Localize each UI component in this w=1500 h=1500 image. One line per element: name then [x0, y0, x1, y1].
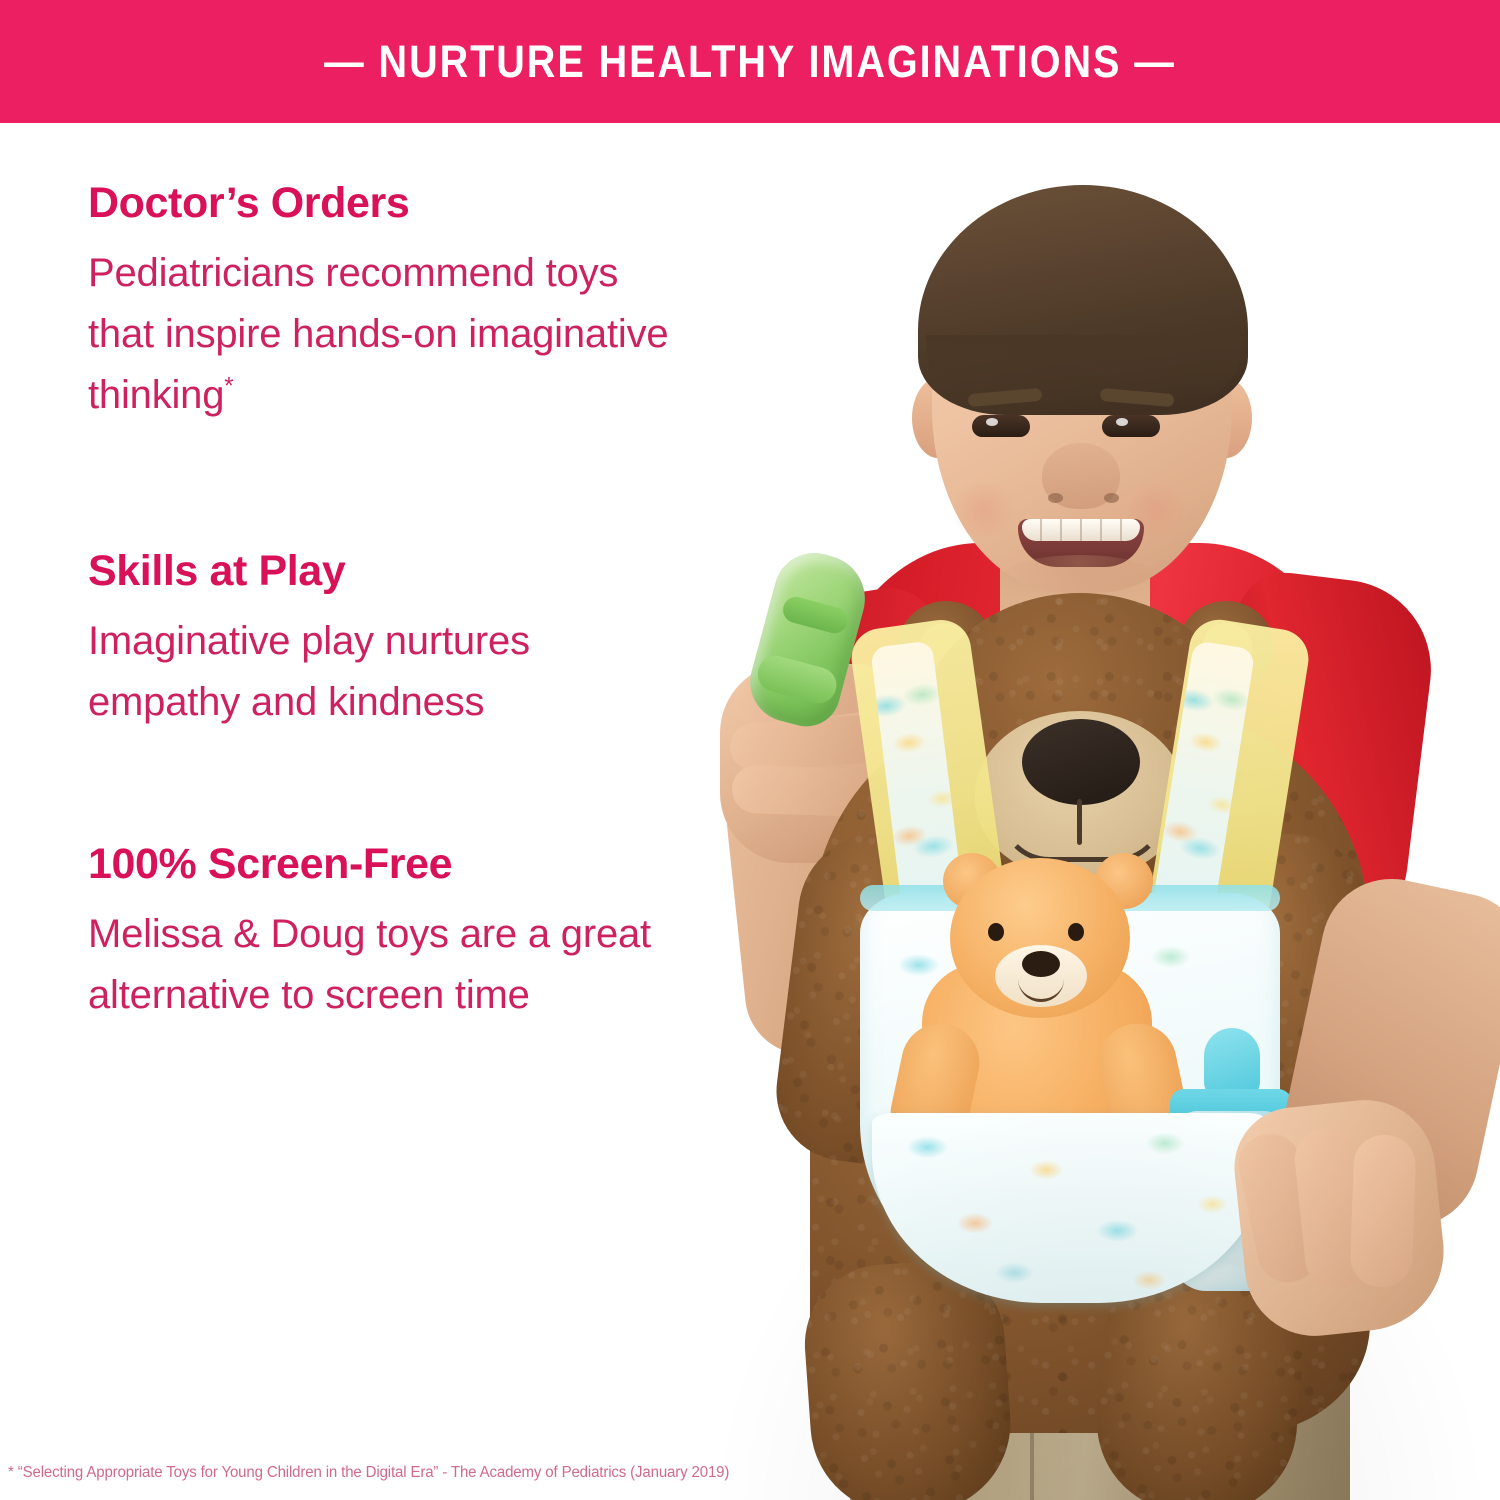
- copy-column: Doctor’s Orders Pediatricians recommend …: [88, 180, 688, 1025]
- boy-supporting-finger-3: [1349, 1134, 1416, 1288]
- banner-title: — NURTURE HEALTHY IMAGINATIONS —: [324, 36, 1176, 88]
- copy-block-skills-at-play: Skills at Play Imaginative play nurtures…: [88, 548, 688, 733]
- product-photo: [700, 123, 1500, 1500]
- boy-eye-highlight-left: [986, 418, 998, 426]
- copy-heading-doctors-orders: Doctor’s Orders: [88, 180, 688, 227]
- boy-eye-right: [1102, 415, 1160, 437]
- boy-hair: [918, 185, 1248, 415]
- boy-cheek-left: [948, 483, 1018, 537]
- bear-nose: [1022, 719, 1140, 805]
- boy-eye-highlight-right: [1116, 418, 1128, 426]
- copy-heading-skills-at-play: Skills at Play: [88, 548, 688, 595]
- boy-nostril-left: [1048, 493, 1063, 503]
- promo-page: — NURTURE HEALTHY IMAGINATIONS — Doctor’…: [0, 0, 1500, 1500]
- cub-nose: [1022, 951, 1060, 977]
- boy-nostril-right: [1104, 493, 1119, 503]
- copy-block-screen-free: 100% Screen-Free Melissa & Doug toys are…: [88, 841, 688, 1026]
- cub-eye-left: [988, 923, 1004, 941]
- footnote-text: * “Selecting Appropriate Toys for Young …: [8, 1464, 729, 1482]
- copy-body-screen-free: Melissa & Doug toys are a great alternat…: [88, 904, 688, 1026]
- boy-eye-left: [972, 415, 1030, 437]
- copy-body-text-0: Pediatricians recommend toys that inspir…: [88, 251, 668, 417]
- header-banner: — NURTURE HEALTHY IMAGINATIONS —: [0, 0, 1500, 123]
- boy-teeth: [1022, 519, 1140, 541]
- copy-block-doctors-orders: Doctor’s Orders Pediatricians recommend …: [88, 180, 688, 426]
- footnote-marker: *: [224, 373, 233, 400]
- copy-body-skills-at-play: Imaginative play nurtures empathy and ki…: [88, 611, 688, 733]
- copy-heading-screen-free: 100% Screen-Free: [88, 841, 688, 888]
- cub-eye-right: [1068, 923, 1084, 941]
- copy-body-doctors-orders: Pediatricians recommend toys that inspir…: [88, 243, 688, 425]
